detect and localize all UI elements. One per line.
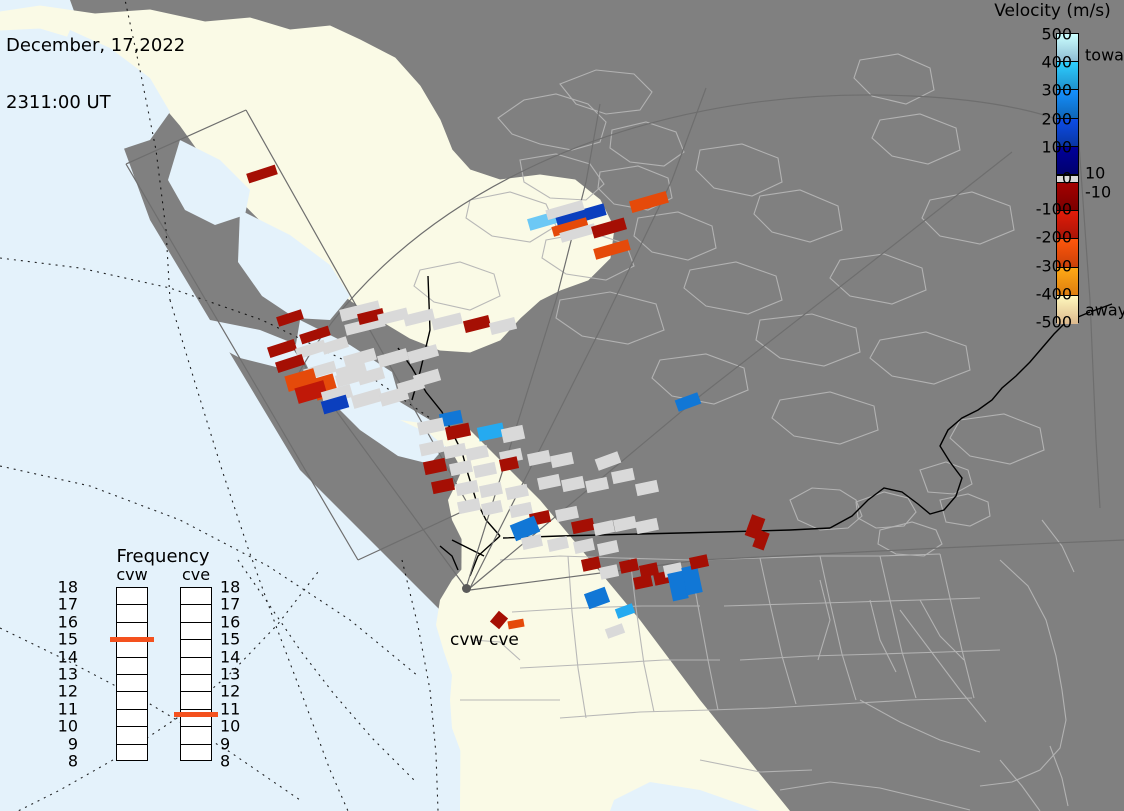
colorbar-tick-300: 300 [1024, 81, 1072, 100]
colorbar-tick-400: 400 [1024, 53, 1072, 72]
site-label-cvw: cvw [450, 630, 483, 650]
frequency-cell [181, 745, 211, 762]
frequency-tick-cvw-17: 17 [52, 595, 78, 614]
colorbar-tick-100: 100 [1024, 137, 1072, 156]
frequency-tick-cvw-14: 14 [52, 647, 78, 666]
colorbar-away-label: away [1085, 301, 1124, 320]
frequency-tick-cvw-12: 12 [52, 682, 78, 701]
frequency-cell [181, 658, 211, 675]
frequency-cell [117, 710, 147, 727]
colorbar-title: Velocity (m/s) [981, 1, 1124, 21]
frequency-tick-cvw-13: 13 [52, 665, 78, 684]
frequency-tick-cve-16: 16 [220, 612, 246, 631]
frequency-tick-cvw-16: 16 [52, 612, 78, 631]
colorbar-toward-label: toward [1085, 46, 1124, 65]
colorbar-tick--300: -300 [1024, 256, 1072, 275]
colorbar-tick--100: -100 [1024, 200, 1072, 219]
frequency-box-cvw [116, 587, 148, 761]
frequency-tick-cve-12: 12 [220, 682, 246, 701]
frequency-tick-cvw-15: 15 [52, 630, 78, 649]
frequency-title: Frequency [88, 546, 238, 567]
timestamp-block: December, 17,2022 2311:00 UT [6, 0, 185, 150]
frequency-cell [117, 675, 147, 692]
frequency-tick-cve-10: 10 [220, 717, 246, 736]
frequency-tick-cve-18: 18 [220, 578, 246, 597]
frequency-value-bar-cvw [110, 637, 154, 642]
frequency-cell [117, 588, 147, 605]
frequency-cell [117, 692, 147, 709]
frequency-cell [117, 640, 147, 657]
frequency-tick-cve-15: 15 [220, 630, 246, 649]
colorbar-tick--200: -200 [1024, 228, 1072, 247]
colorbar-tick-200: 200 [1024, 109, 1072, 128]
frequency-legend: Frequency cvw 18171615141312111098 cve 1… [88, 546, 238, 781]
frequency-cell [117, 605, 147, 622]
frequency-tick-cve-8: 8 [220, 752, 246, 771]
frequency-cell [117, 658, 147, 675]
frequency-box-cve [180, 587, 212, 761]
frequency-cell [181, 588, 211, 605]
colorbar-tick-0: 0 [1024, 169, 1072, 188]
colorbar-tick--400: -400 [1024, 284, 1072, 303]
colorbar-inner-upper-label: 10 [1085, 164, 1105, 183]
frequency-column-cvw-label: cvw [116, 565, 148, 584]
frequency-cell [181, 640, 211, 657]
frequency-tick-cvw-11: 11 [52, 699, 78, 718]
site-label-cve: cve [489, 630, 519, 650]
frequency-cell [181, 605, 211, 622]
colorbar-inner-lower-label: -10 [1085, 183, 1111, 202]
frequency-cell [181, 675, 211, 692]
frequency-tick-cve-9: 9 [220, 734, 246, 753]
frequency-tick-cve-13: 13 [220, 665, 246, 684]
frequency-tick-cve-14: 14 [220, 647, 246, 666]
colorbar-tick--500: -500 [1024, 313, 1072, 332]
frequency-cell [117, 745, 147, 762]
frequency-cell [181, 692, 211, 709]
timestamp-time: 2311:00 UT [6, 93, 185, 112]
timestamp-date: December, 17,2022 [6, 36, 185, 55]
velocity-colorbar: Velocity (m/s) 5004003002001000-100-200-… [975, 0, 1124, 340]
colorbar-tick-500: 500 [1024, 25, 1072, 44]
frequency-column-cve-label: cve [180, 565, 212, 584]
frequency-cell [181, 727, 211, 744]
frequency-tick-cvw-8: 8 [52, 752, 78, 771]
frequency-cell [181, 623, 211, 640]
frequency-value-bar-cve [174, 712, 218, 717]
frequency-tick-cvw-9: 9 [52, 734, 78, 753]
frequency-tick-cvw-18: 18 [52, 578, 78, 597]
frequency-cell [117, 727, 147, 744]
frequency-tick-cve-11: 11 [220, 699, 246, 718]
frequency-tick-cvw-10: 10 [52, 717, 78, 736]
frequency-tick-cve-17: 17 [220, 595, 246, 614]
radar-velocity-map: cvw cve December, 17,2022 2311:00 UT Vel… [0, 0, 1124, 811]
radar-site-dot [462, 584, 471, 593]
